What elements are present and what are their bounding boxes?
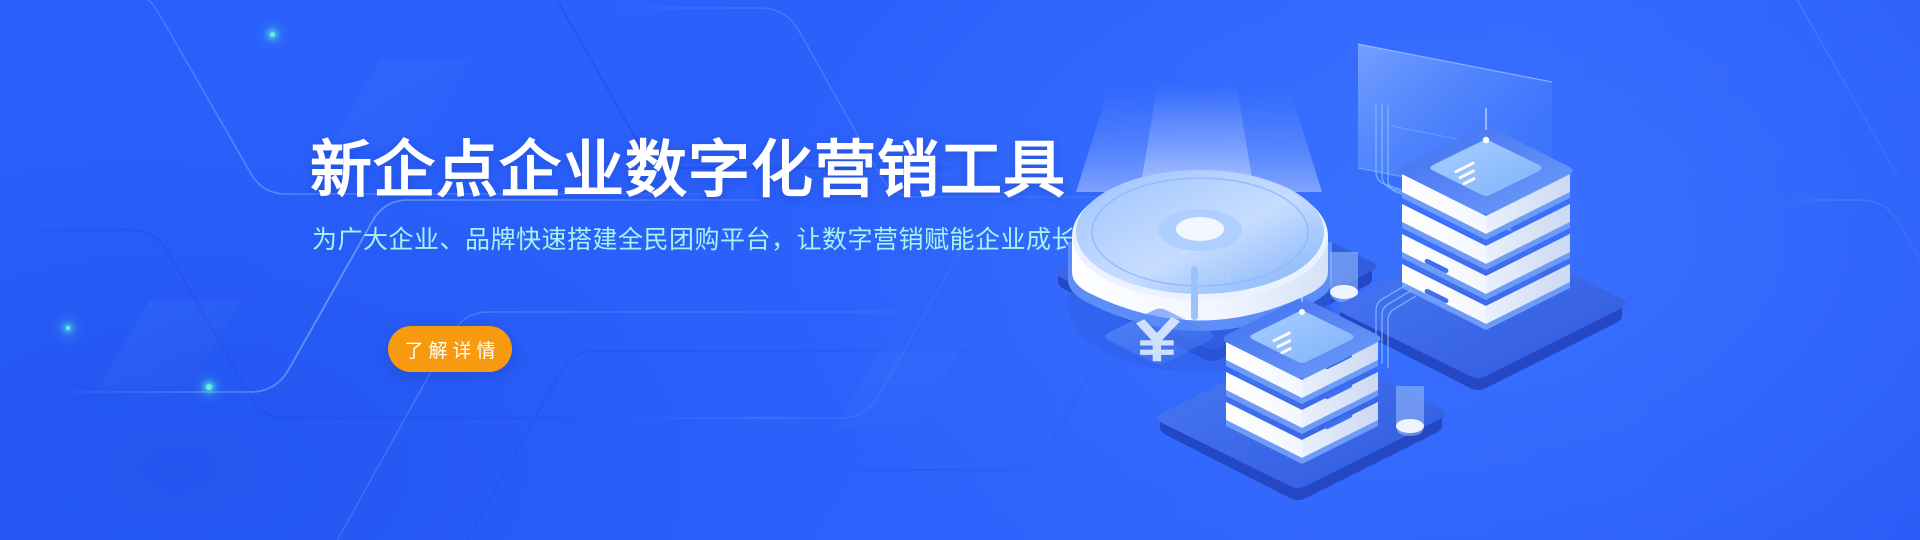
trace-glow-dot [270,32,275,37]
cylinder-marker-bottom [1396,386,1424,436]
trace-glow-dot [206,384,212,390]
cylinder-marker-left [1330,252,1358,302]
isometric-data-center-illustration [1040,30,1600,510]
learn-more-button[interactable]: 了解详情 [388,326,512,372]
background-circuit-traces [0,0,1920,540]
trace-glow-dot [66,326,70,330]
promo-banner: 新企点企业数字化营销工具 为广大企业、品牌快速搭建全民团购平台，让数字营销赋能企… [0,0,1920,540]
trace-lines-svg [0,0,1920,540]
